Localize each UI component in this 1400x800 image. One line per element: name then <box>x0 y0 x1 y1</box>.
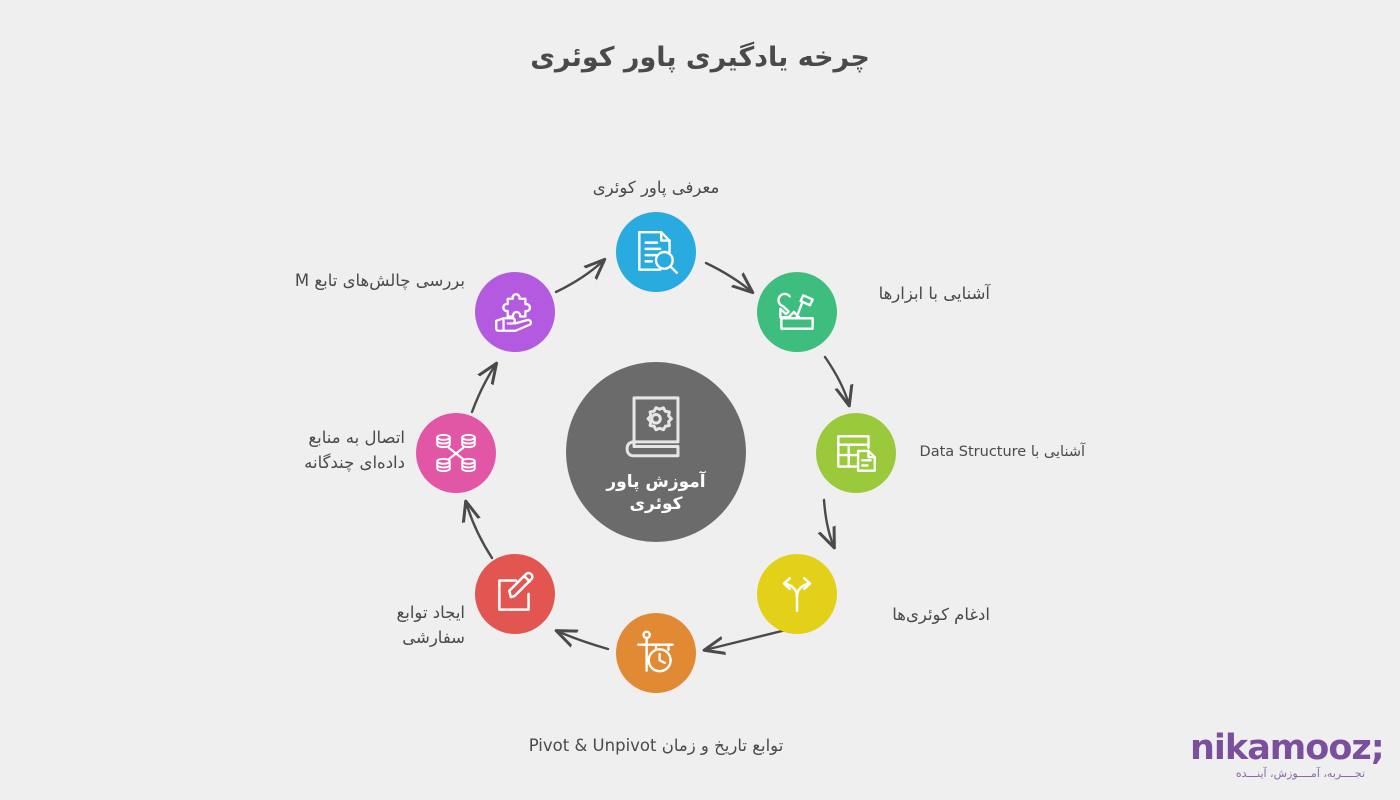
diagram-canvas: چرخه یادگیری پاور کوئری <box>0 0 1400 800</box>
logo-tagline: تجــــربه، آمــــوزش، آینـــده <box>1190 767 1365 780</box>
hub-label: آموزش پاور کوئری <box>581 471 731 515</box>
book-gear-icon <box>619 391 693 465</box>
logo-wordmark: nikamooz; <box>1190 730 1365 766</box>
arrow-m-challenges-to-intro <box>556 260 604 292</box>
arrow-date-time-to-custom <box>557 631 608 649</box>
calendar-clock-icon <box>631 628 681 678</box>
brand-logo: nikamooz; تجــــربه، آمــــوزش، آینـــده <box>1190 730 1365 780</box>
arrow-merge-to-date-time <box>705 629 790 650</box>
arrow-custom-to-multi-source <box>466 502 492 558</box>
node-merge-queries-label: ادغام کوئری‌ها <box>700 602 990 627</box>
node-multi-source-label: اتصال به منابع داده‌ای چندگانه <box>230 425 405 475</box>
hand-puzzle-icon <box>490 287 540 337</box>
arrow-multi-source-to-m-challenges <box>472 364 496 412</box>
node-m-challenges[interactable] <box>475 272 555 352</box>
node-date-time-label: توابع تاریخ و زمان Pivot & Unpivot <box>456 733 856 758</box>
page-title: چرخه یادگیری پاور کوئری <box>0 42 1400 73</box>
arrow-data-structure-to-merge <box>824 500 834 547</box>
node-intro-label: معرفی پاور کوئری <box>516 175 796 200</box>
multi-database-icon <box>431 428 481 478</box>
hub-circle[interactable]: آموزش پاور کوئری <box>566 362 746 542</box>
node-date-time[interactable] <box>616 613 696 693</box>
edit-pencil-icon <box>490 569 540 619</box>
arrow-tools-to-data-structure <box>825 357 849 405</box>
node-custom-functions[interactable] <box>475 554 555 634</box>
node-multi-source[interactable] <box>416 413 496 493</box>
node-data-structure-label: آشنایی با Data Structure <box>760 440 1085 465</box>
node-m-challenges-label: بررسی چالش‌های تابع M <box>215 268 465 293</box>
node-tools-label: آشنایی با ابزارها <box>700 281 990 306</box>
node-intro[interactable] <box>616 212 696 292</box>
document-search-icon <box>631 227 681 277</box>
node-custom-functions-label: ایجاد توابع سفارشی <box>290 600 465 650</box>
